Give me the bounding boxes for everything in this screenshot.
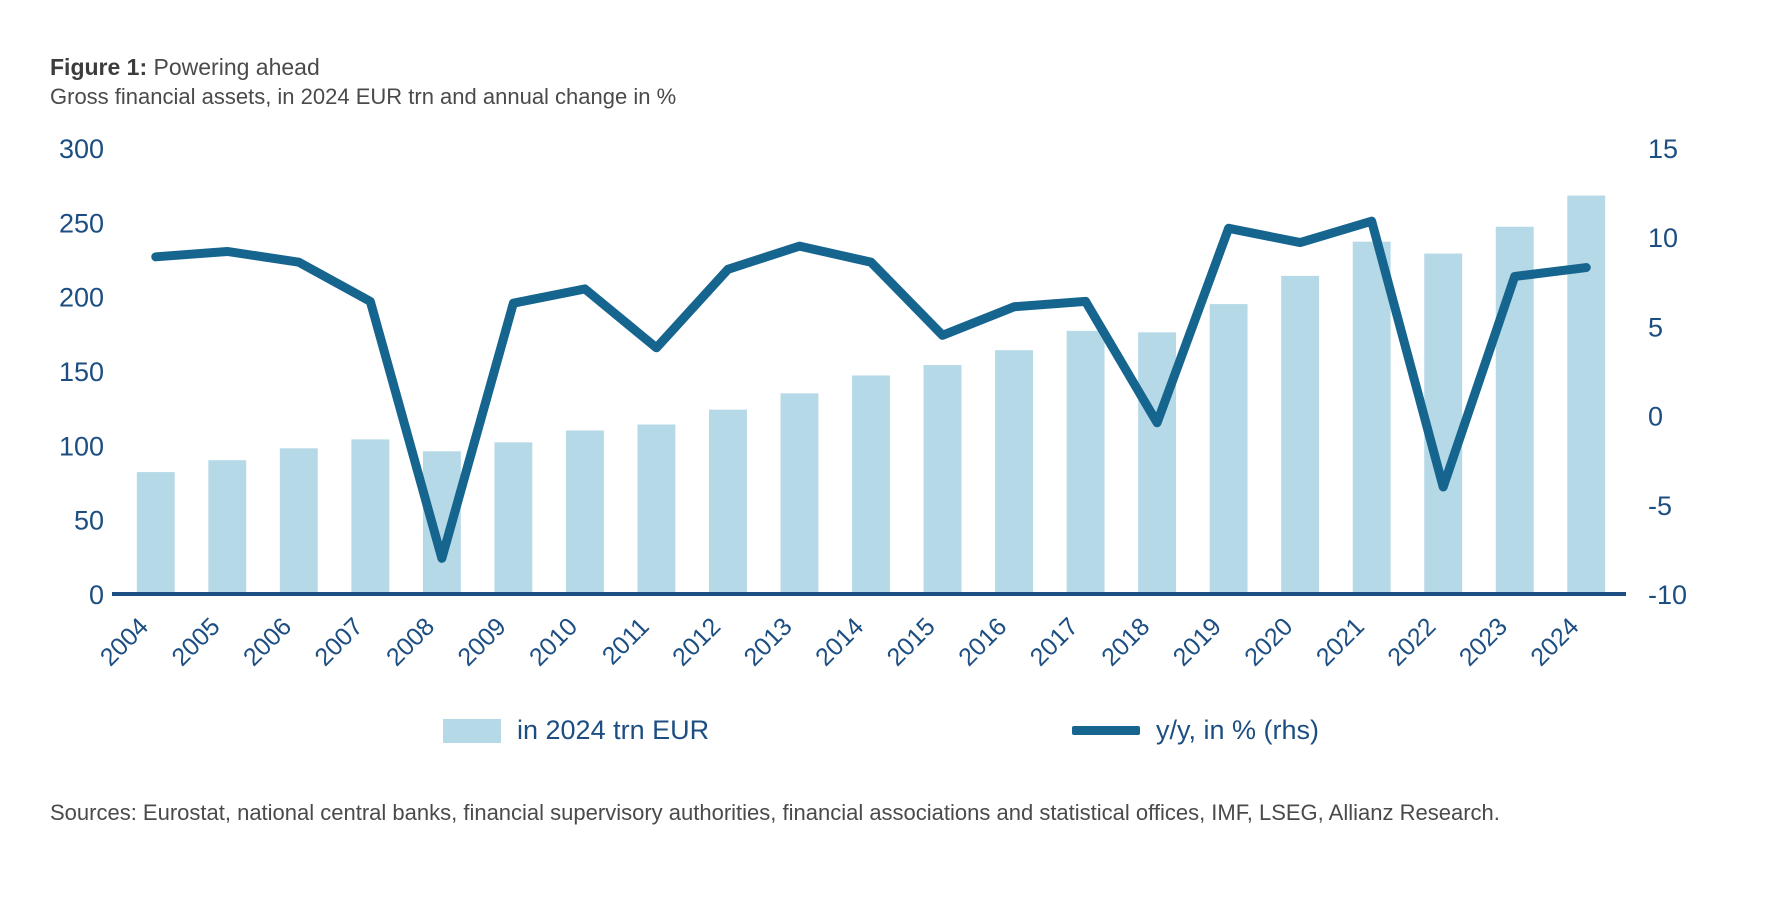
right-axis-tick-label: 10 [1648,223,1678,253]
bar [852,375,890,594]
bar [637,425,675,594]
x-axis-tick-label: 2012 [667,612,726,671]
x-axis-tick-label: 2020 [1239,612,1298,671]
legend-bar-swatch-icon [443,719,501,743]
x-axis-tick-label: 2021 [1311,612,1370,671]
bar [1067,331,1105,594]
figure-subtitle: Gross financial assets, in 2024 EUR trn … [50,82,676,112]
left-axis-tick-label: 0 [89,580,104,610]
chart-plot-area: 050100150200250300-10-505101520042005200… [0,120,1785,620]
figure-title-block: Figure 1: Powering ahead Gross financial… [50,52,676,112]
figure-container: Figure 1: Powering ahead Gross financial… [0,0,1785,919]
legend-item-bars: in 2024 trn EUR [443,715,709,746]
figure-title-line: Figure 1: Powering ahead [50,52,676,82]
right-axis-tick-label: 5 [1648,312,1663,342]
x-axis-tick-label: 2022 [1382,612,1441,671]
x-axis-tick-label: 2019 [1168,612,1227,671]
bar [995,350,1033,594]
bar [709,410,747,594]
x-axis-tick-label: 2007 [309,612,368,671]
bar [566,430,604,594]
left-axis-tick-label: 250 [59,208,104,238]
x-axis-tick-label: 2023 [1454,612,1513,671]
x-axis-tick-label: 2016 [953,612,1012,671]
left-axis-tick-label: 200 [59,283,104,313]
x-axis-tick-label: 2005 [166,612,225,671]
left-axis-tick-label: 150 [59,357,104,387]
x-axis-tick-label: 2010 [524,612,583,671]
x-axis-tick-label: 2015 [882,612,941,671]
figure-label: Figure 1: [50,54,147,80]
bar [781,393,819,594]
bar [280,448,318,594]
chart-legend: in 2024 trn EUR y/y, in % (rhs) [0,715,1785,765]
x-axis-tick-label: 2018 [1096,612,1155,671]
bar [1567,196,1605,594]
legend-bar-label: in 2024 trn EUR [517,715,709,746]
legend-line-label: y/y, in % (rhs) [1156,715,1319,746]
left-axis-tick-label: 50 [74,506,104,536]
right-axis-tick-label: 0 [1648,402,1663,432]
x-axis-tick-label: 2006 [238,612,297,671]
legend-item-line: y/y, in % (rhs) [1072,715,1319,746]
legend-line-swatch-icon [1072,726,1140,735]
right-axis-tick-label: 15 [1648,134,1678,164]
x-axis-tick-label: 2014 [810,612,869,671]
chart-svg: 050100150200250300-10-505101520042005200… [0,120,1785,680]
x-axis-tick-label: 2009 [452,612,511,671]
bar [1210,304,1248,594]
bar [351,439,389,594]
x-axis-tick-label: 2004 [95,612,154,671]
bar [137,472,175,594]
page-title: Powering ahead [154,54,320,80]
sources-note: Sources: Eurostat, national central bank… [50,800,1500,826]
right-axis-tick-label: -5 [1648,491,1672,521]
x-axis-tick-label: 2011 [597,612,655,670]
left-axis-tick-label: 300 [59,134,104,164]
x-axis-tick-label: 2013 [739,612,798,671]
bar [208,460,246,594]
bar [494,442,532,594]
x-axis-tick-label: 2017 [1025,612,1084,671]
x-axis-tick-label: 2024 [1525,612,1584,671]
bar [1281,276,1319,594]
bar [1353,242,1391,594]
bar [1138,332,1176,594]
left-axis-tick-label: 100 [59,431,104,461]
right-axis-tick-label: -10 [1648,580,1687,610]
x-axis-tick-label: 2008 [381,612,440,671]
bar [924,365,962,594]
